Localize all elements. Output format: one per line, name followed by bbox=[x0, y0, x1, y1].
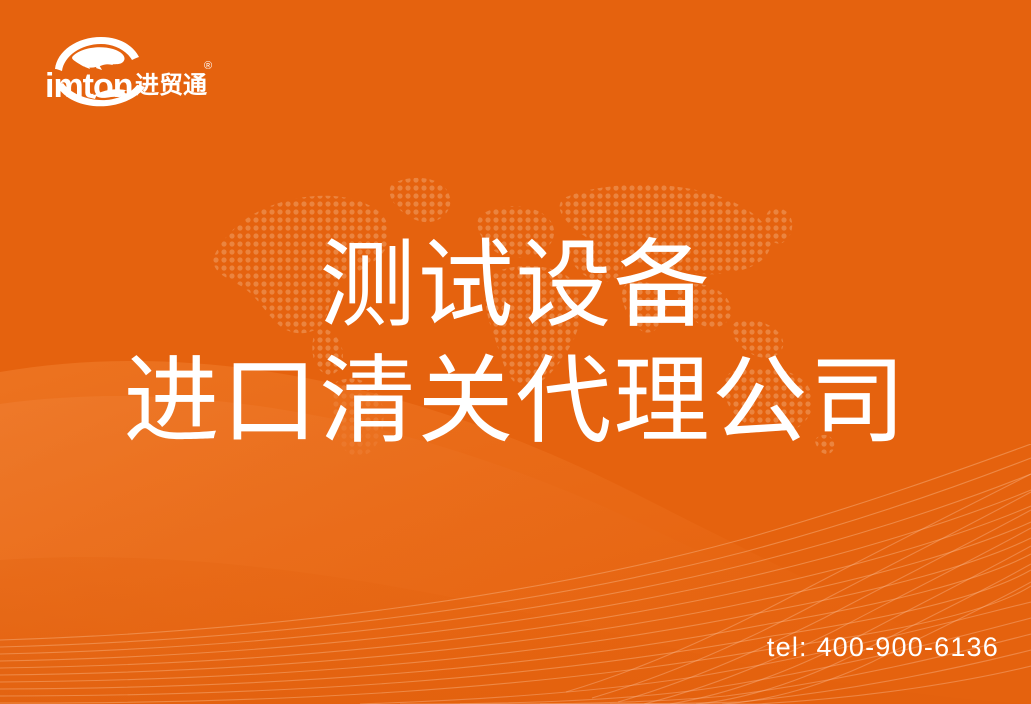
brand-logo[interactable]: imton 进贸通 ® bbox=[43, 31, 213, 109]
contact-phone[interactable]: tel: 400-900-6136 bbox=[767, 632, 999, 663]
promo-banner: imton 进贸通 ® 测试设备 进口清关代理公司 tel: 400-900-6… bbox=[0, 0, 1031, 704]
logo-chinese-name: 进贸通 bbox=[135, 72, 207, 99]
title-line-2: 进口清关代理公司 bbox=[0, 348, 1031, 456]
trademark-symbol: ® bbox=[204, 60, 212, 72]
title-line-1: 测试设备 bbox=[0, 232, 1031, 340]
page-title: 测试设备 进口清关代理公司 bbox=[0, 232, 1031, 455]
logo-wordmark: imton bbox=[45, 67, 133, 105]
